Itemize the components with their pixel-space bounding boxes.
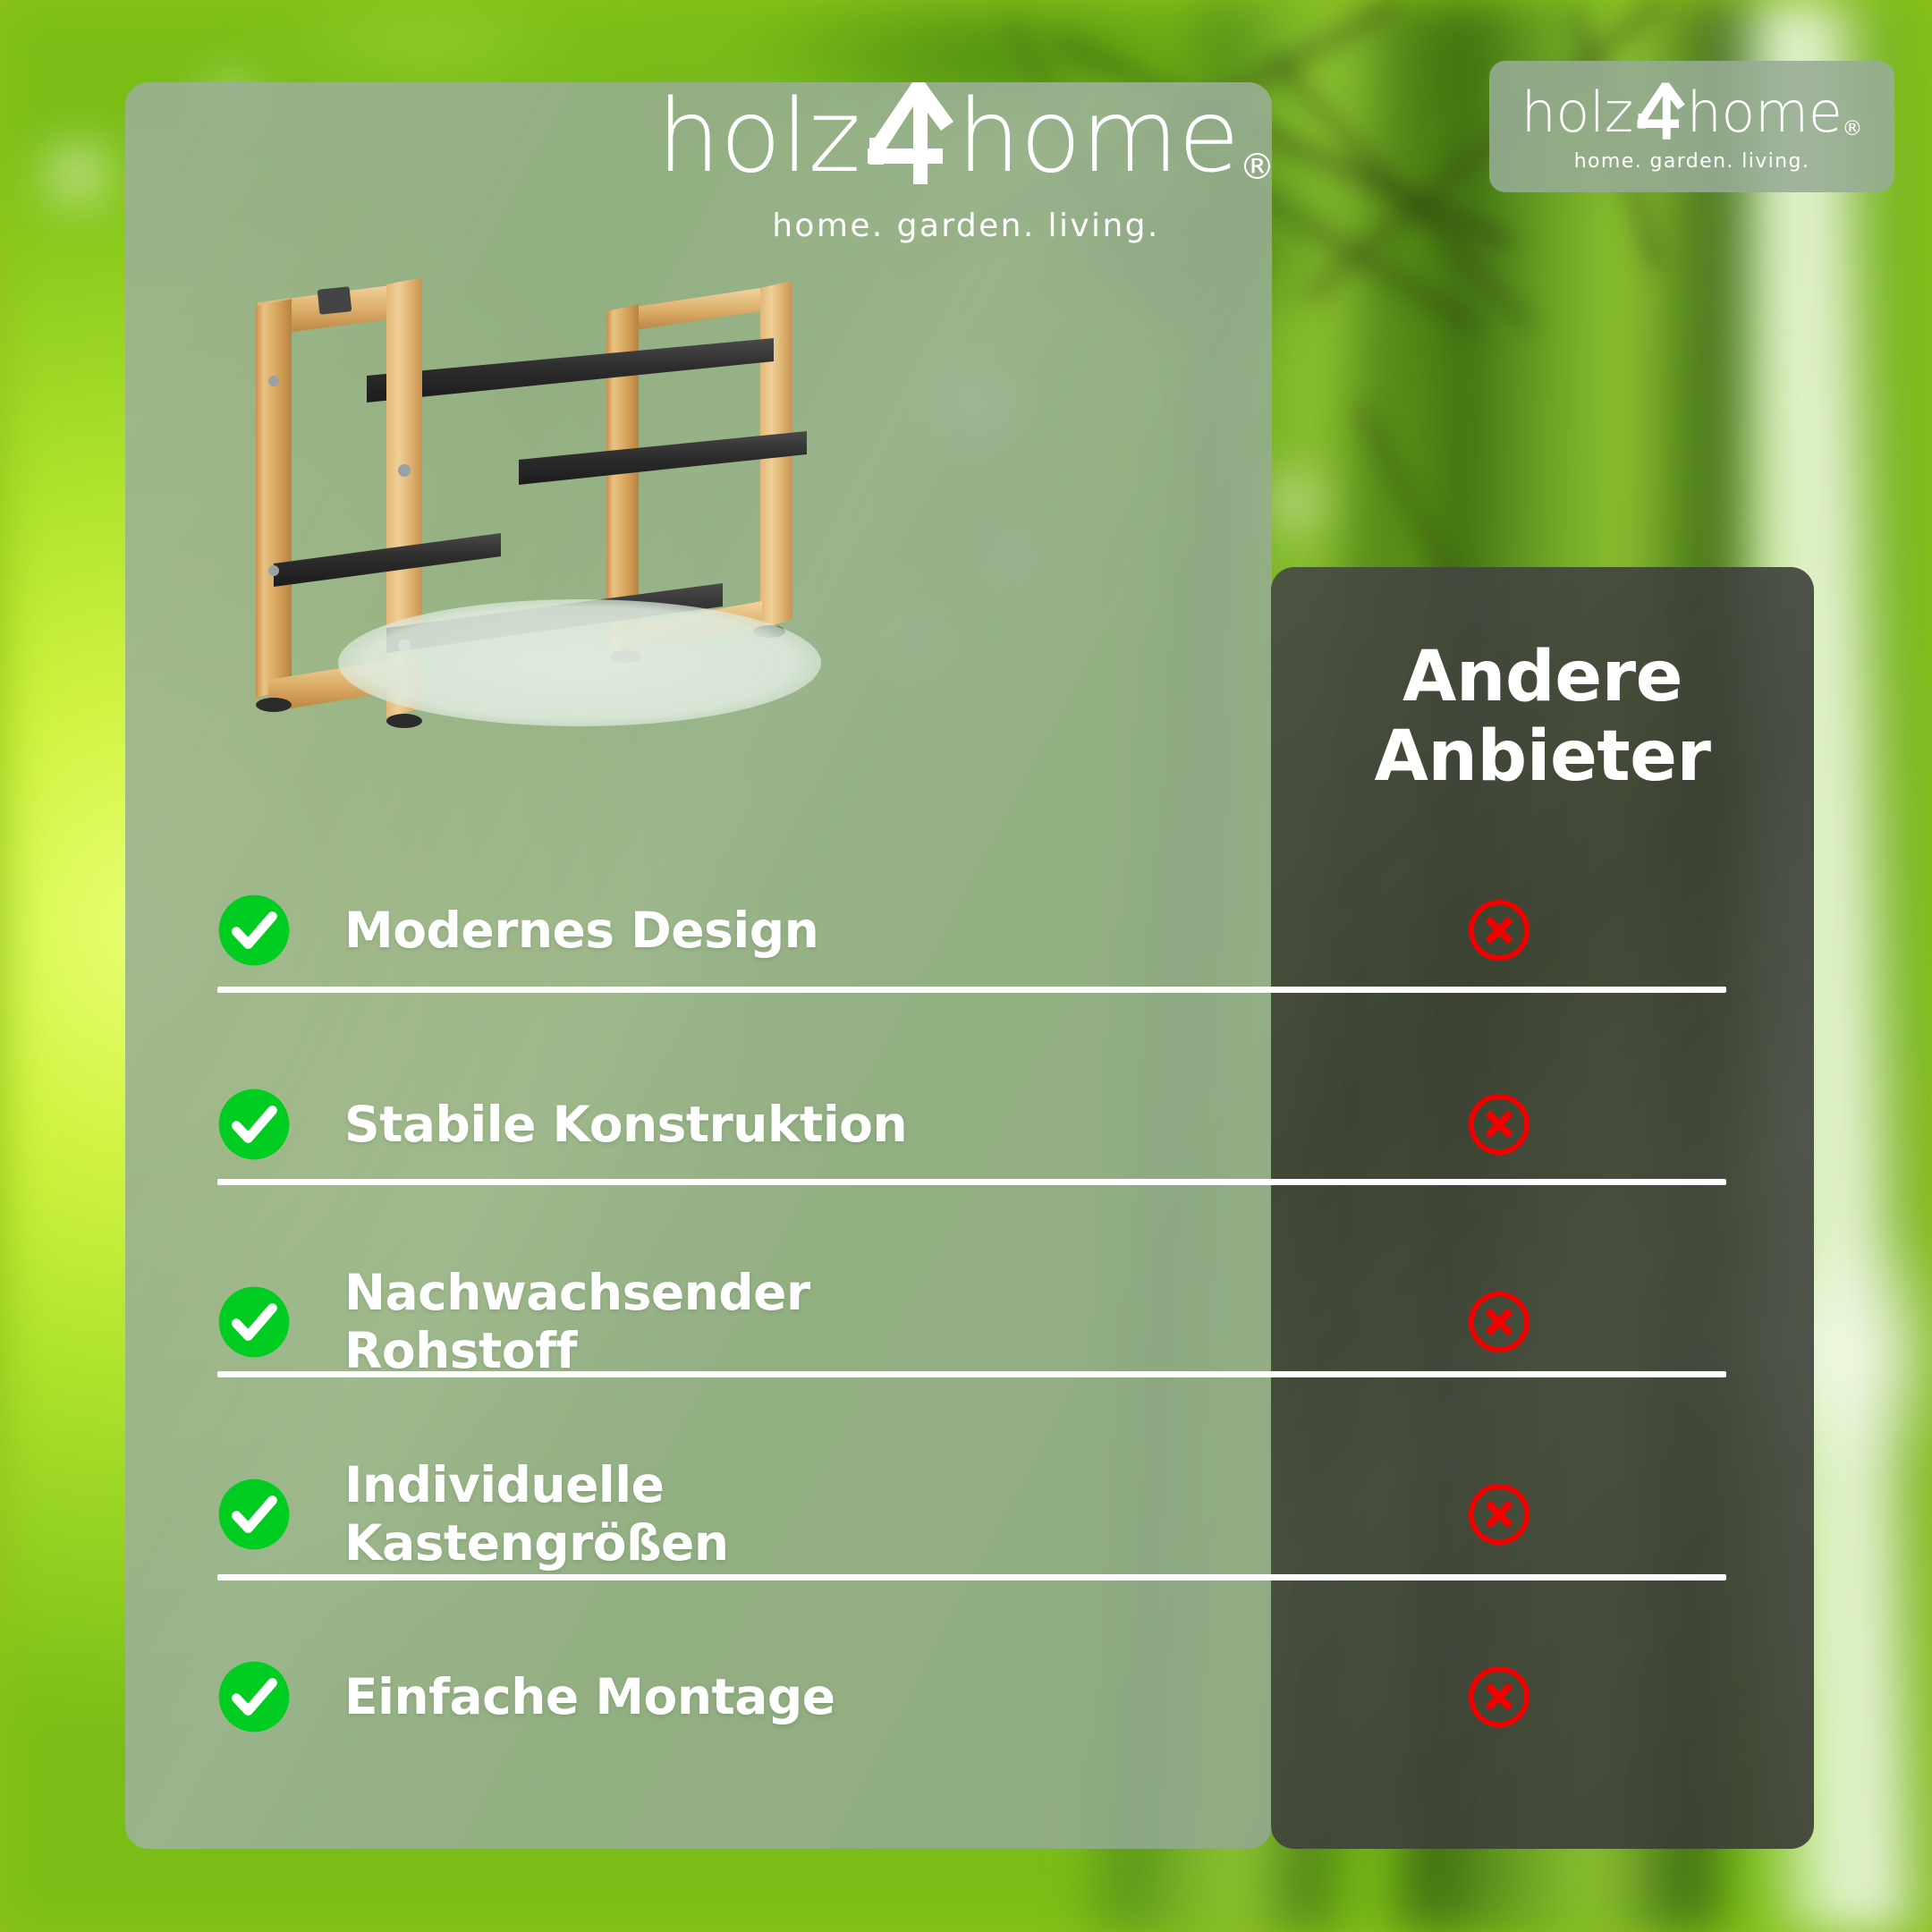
house-four-icon: [860, 79, 957, 184]
badge-wordmark: holz home ®: [1513, 80, 1871, 140]
cross-circle-icon: [1466, 1091, 1532, 1157]
competitor-heading-line2: Anbieter: [1271, 717, 1814, 797]
check-circle-icon: [217, 1478, 291, 1551]
feature-label: Einfache Montage: [344, 1668, 835, 1726]
feature-label: Individuelle Kastengrößen: [344, 1456, 729, 1572]
metal-bar-top: [367, 338, 774, 402]
brand-tagline: home. garden. living.: [0, 208, 1932, 244]
registered-trademark-icon: ®: [1842, 120, 1862, 140]
competitor-cell: [1271, 1289, 1726, 1355]
check-circle-icon: [217, 1285, 291, 1359]
feature-cell: Individuelle Kastengrößen: [217, 1456, 1271, 1572]
competitor-heading-line1: Andere: [1271, 638, 1814, 717]
brand-name-part1: holz: [657, 89, 860, 184]
house-four-icon: [1633, 80, 1687, 140]
feature-cell: Einfache Montage: [217, 1660, 1271, 1733]
poster-canvas: holz home ® home. garden. living.: [0, 0, 1932, 1932]
competitor-heading: Andere Anbieter: [1271, 638, 1814, 797]
table-row[interactable]: Einfache Montage: [217, 1621, 1726, 1773]
cross-circle-icon: [1466, 897, 1532, 963]
registered-trademark-icon: ®: [1239, 150, 1275, 184]
check-circle-icon: [217, 1088, 291, 1161]
competitor-cell: [1271, 1481, 1726, 1547]
competitor-cell: [1271, 897, 1726, 963]
feature-label: Stabile Konstruktion: [344, 1096, 907, 1154]
brand-name-part2: home: [957, 89, 1240, 184]
competitor-cell: [1271, 1091, 1726, 1157]
badge-name-part2: home: [1687, 87, 1843, 140]
badge-name-part1: holz: [1521, 87, 1633, 140]
cross-circle-icon: [1466, 1664, 1532, 1730]
competitor-cell: [1271, 1664, 1726, 1730]
cross-circle-icon: [1466, 1289, 1532, 1355]
table-row[interactable]: Stabile Konstruktion: [217, 1048, 1726, 1200]
product-shadow-ellipse: [338, 599, 821, 726]
cross-circle-icon: [1466, 1481, 1532, 1547]
check-circle-icon: [217, 1660, 291, 1733]
feature-cell: Nachwachsender Rohstoff: [217, 1264, 1271, 1380]
product-image: [143, 268, 1004, 751]
feature-cell: Stabile Konstruktion: [217, 1088, 1271, 1161]
check-circle-icon: [217, 894, 291, 967]
feature-cell: Modernes Design: [217, 894, 1271, 967]
table-row[interactable]: Modernes Design: [217, 854, 1726, 1006]
corner-brand-badge[interactable]: holz home ® home. garden. living.: [1489, 61, 1894, 192]
table-row[interactable]: Individuelle Kastengrößen: [217, 1427, 1726, 1601]
badge-tagline: home. garden. living.: [1513, 150, 1871, 173]
table-row[interactable]: Nachwachsender Rohstoff: [217, 1234, 1726, 1409]
feature-label: Nachwachsender Rohstoff: [344, 1264, 810, 1380]
feature-label: Modernes Design: [344, 902, 818, 960]
